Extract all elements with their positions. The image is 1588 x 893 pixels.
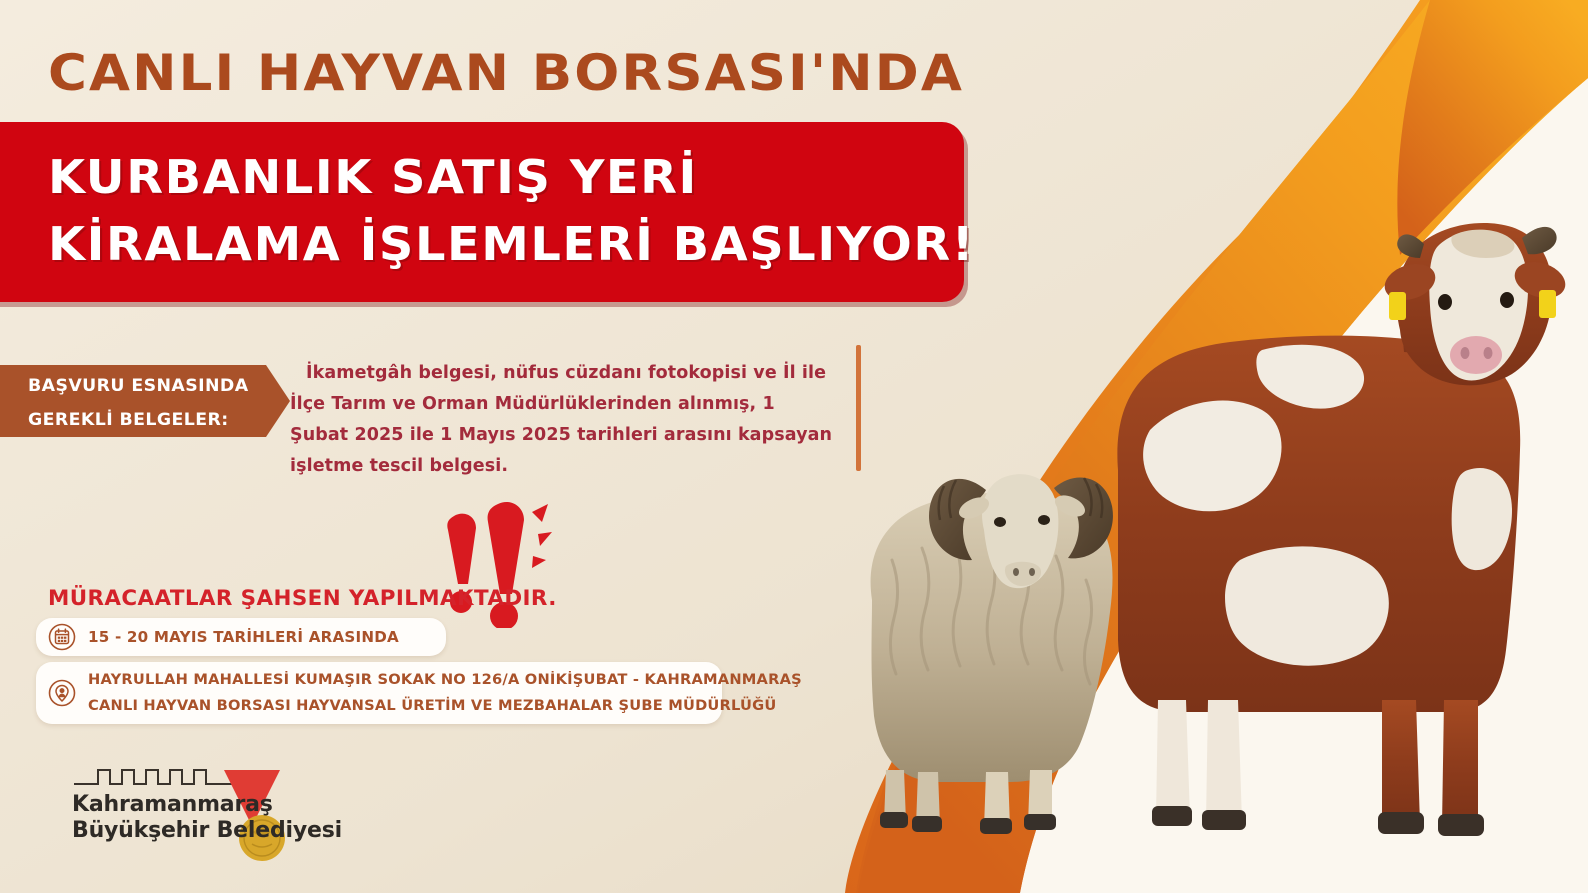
address-card: HAYRULLAH MAHALLESİ KUMAŞIR SOKAK NO 126…: [36, 662, 722, 724]
dates-card: 15 - 20 MAYIS TARİHLERİ ARASINDA: [36, 618, 446, 656]
required-documents-tab-line-2: GEREKLİ BELGELER:: [28, 403, 271, 437]
logo-line-2: Büyükşehir Belediyesi: [72, 818, 342, 844]
municipality-logo: Kahramanmaraş Büyükşehir Belediyesi: [72, 752, 322, 862]
address-card-line-2: CANLI HAYVAN BORSASI HAYVANSAL ÜRETİM VE…: [88, 693, 802, 719]
headline-line-1: KURBANLIK SATIŞ YERİ: [48, 150, 698, 204]
poster-canvas: CANLI HAYVAN BORSASI'NDA KURBANLIK SATIŞ…: [0, 0, 1588, 893]
castle-wall-icon: [74, 770, 232, 784]
tab-arrow-icon: [266, 365, 290, 437]
ram-horn-left: [929, 479, 986, 560]
notice-heading: MÜRACAATLAR ŞAHSEN YAPILMAKTADIR.: [48, 586, 557, 610]
page-title: CANLI HAYVAN BORSASI'NDA: [48, 44, 964, 102]
ram-horn-right: [1054, 478, 1113, 559]
ear-tag-right: [1539, 290, 1556, 318]
cow-photo: [1117, 223, 1570, 836]
ear-tag-left: [1389, 292, 1406, 320]
calendar-icon: [48, 623, 76, 651]
headline-line-2: KİRALAMA İŞLEMLERİ BAŞLIYOR!: [48, 217, 975, 271]
vertical-divider: [856, 345, 861, 471]
headline-banner: KURBANLIK SATIŞ YERİ KİRALAMA İŞLEMLERİ …: [0, 122, 964, 302]
logo-text: Kahramanmaraş Büyükşehir Belediyesi: [72, 792, 342, 844]
address-card-line-1: HAYRULLAH MAHALLESİ KUMAŞIR SOKAK NO 126…: [88, 667, 802, 693]
required-documents-tab: BAŞVURU ESNASINDA GEREKLİ BELGELER:: [0, 365, 266, 437]
logo-line-1: Kahramanmaraş: [72, 792, 342, 818]
required-documents-tab-line-1: BAŞVURU ESNASINDA: [28, 369, 271, 403]
person-location-icon: [48, 679, 76, 707]
dates-card-line-1: 15 - 20 MAYIS TARİHLERİ ARASINDA: [88, 625, 399, 649]
ram-photo: [871, 474, 1113, 834]
required-documents-body: İkametgâh belgesi, nüfus cüzdanı fotokop…: [290, 358, 838, 482]
